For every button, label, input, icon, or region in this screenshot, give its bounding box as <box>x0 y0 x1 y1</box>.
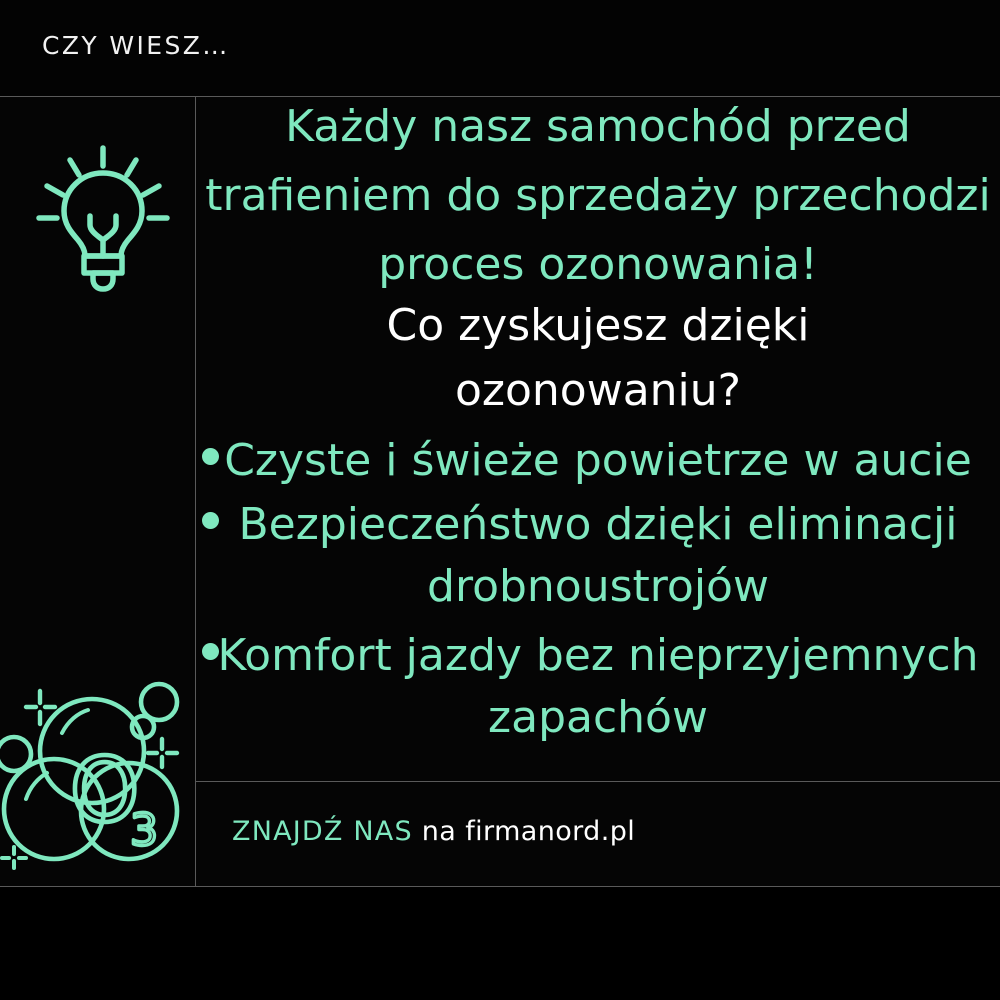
bullet-dot-icon <box>202 643 219 660</box>
ozone-o3-icon: O 3 <box>0 677 192 877</box>
poster-header: CZY WIESZ… <box>0 0 1000 96</box>
benefit-label: Komfort jazdy bez nieprzyjemnych zapachó… <box>196 625 1000 750</box>
icon-rail: O 3 <box>0 97 195 886</box>
page-title: CZY WIESZ… <box>42 31 230 60</box>
question-line-1: Co zyskujesz dzięki <box>196 304 1000 348</box>
find-us-text: ZNAJDŹ NAS na firmanord.pl <box>232 816 635 847</box>
main-content: Każdy nasz samochód przed trafieniem do … <box>196 97 1000 781</box>
bullet-dot-icon <box>202 512 219 529</box>
benefit-item: Czyste i świeże powietrze w aucie <box>196 430 1000 492</box>
bullet-dot-icon <box>202 448 219 465</box>
headline-line-1: Każdy nasz samochód przed <box>196 105 1000 149</box>
benefit-label: Bezpieczeństwo dzięki eliminacji drobnou… <box>196 494 1000 619</box>
poster-canvas: CZY WIESZ… <box>0 0 1000 1000</box>
svg-text:3: 3 <box>130 805 158 856</box>
headline-line-2: trafieniem do sprzedaży przechodzi <box>196 174 1000 218</box>
benefit-label: Czyste i świeże powietrze w aucie <box>196 430 1000 492</box>
question-line-2: ozonowaniu? <box>196 369 1000 413</box>
headline-line-3: proces ozonowania! <box>196 243 1000 287</box>
lightbulb-icon <box>33 142 173 292</box>
find-us-strip: ZNAJDŹ NAS na firmanord.pl <box>196 782 1000 886</box>
find-us-label: ZNAJDŹ NAS <box>232 816 413 847</box>
benefit-item: Bezpieczeństwo dzięki eliminacji drobnou… <box>196 494 1000 619</box>
find-us-website[interactable]: na firmanord.pl <box>413 816 635 847</box>
svg-text:O: O <box>70 739 139 842</box>
benefit-item: Komfort jazdy bez nieprzyjemnych zapachó… <box>196 625 1000 750</box>
poster-footer: NORD - Autoryzowany Dealer Samochodów z … <box>0 887 1000 1000</box>
